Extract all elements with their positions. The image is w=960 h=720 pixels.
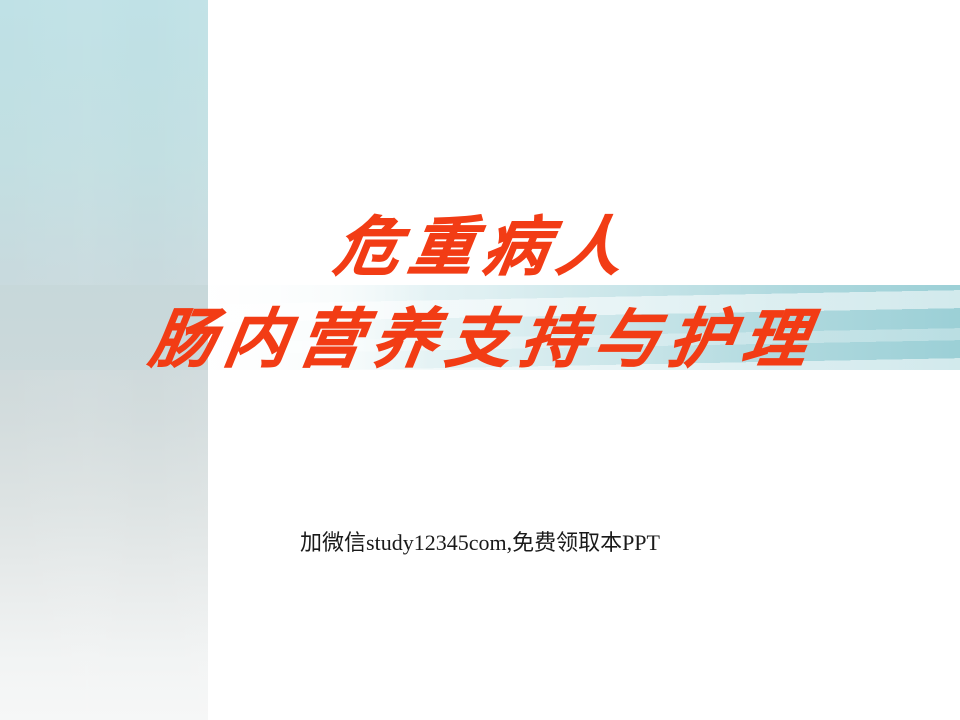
title-band-streaks: [0, 285, 960, 370]
presentation-slide: 危重病人 肠内营养支持与护理 加微信study12345com,免费领取本PPT: [0, 0, 960, 720]
slide-footer-note: 加微信study12345com,免费领取本PPT: [0, 528, 960, 558]
title-highlight-band: [0, 285, 960, 370]
